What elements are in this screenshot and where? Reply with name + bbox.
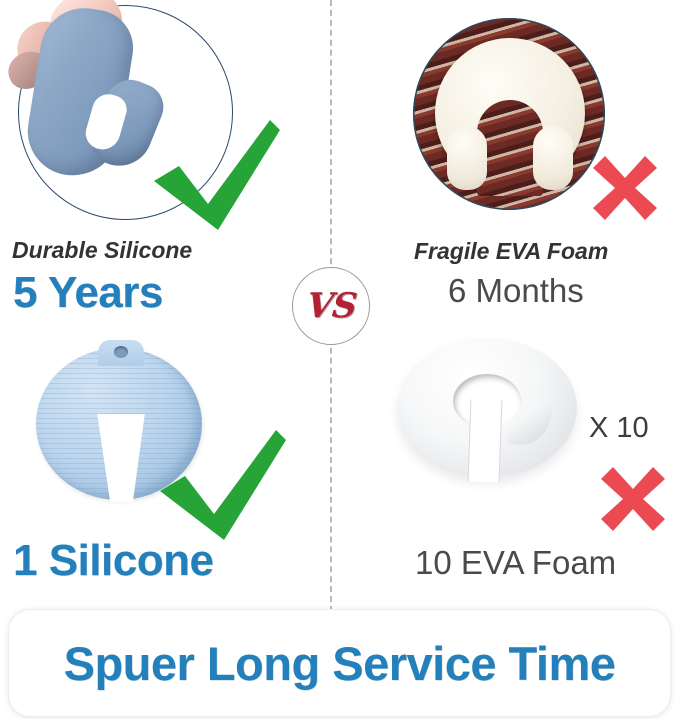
label-fragile-eva-foam: Fragile EVA Foam <box>414 238 608 265</box>
panel-durable-silicone: Durable Silicone 5 Years <box>0 0 330 310</box>
panel-one-silicone: 1 Silicone <box>0 330 330 600</box>
foam-leg-right <box>533 126 573 190</box>
panel-fragile-eva-foam: Fragile EVA Foam 6 Months <box>335 0 679 310</box>
red-x-icon <box>597 463 669 535</box>
red-x-icon <box>589 152 661 224</box>
image-eva-foam-on-wood <box>413 18 605 210</box>
value-silicone-quantity: 1 Silicone <box>13 536 213 586</box>
versus-label: VS <box>304 286 357 326</box>
image-eva-foam-ring <box>397 338 577 490</box>
value-foam-lifespan: 6 Months <box>448 272 584 310</box>
green-check-icon <box>158 428 288 548</box>
foam-leg-left <box>447 126 487 190</box>
eva-ring-gap <box>468 399 503 482</box>
value-silicone-lifespan: 5 Years <box>13 268 163 318</box>
versus-badge: VS <box>292 267 370 345</box>
panel-ten-eva-foam: X 10 10 EVA Foam <box>335 330 679 600</box>
value-foam-quantity: 10 EVA Foam <box>415 544 616 582</box>
eva-foam-cushion-shape <box>435 38 585 196</box>
label-foam-multiplier-visible: X 10 <box>589 412 649 445</box>
bottom-banner: Spuer Long Service Time <box>8 609 671 717</box>
infographic-canvas: Durable Silicone 5 Years Fragile EVA Foa… <box>0 0 679 719</box>
label-durable-silicone: Durable Silicone <box>12 237 192 264</box>
silicone-disc-hole <box>114 346 128 358</box>
banner-headline: Spuer Long Service Time <box>64 636 616 691</box>
green-check-icon <box>152 118 282 238</box>
